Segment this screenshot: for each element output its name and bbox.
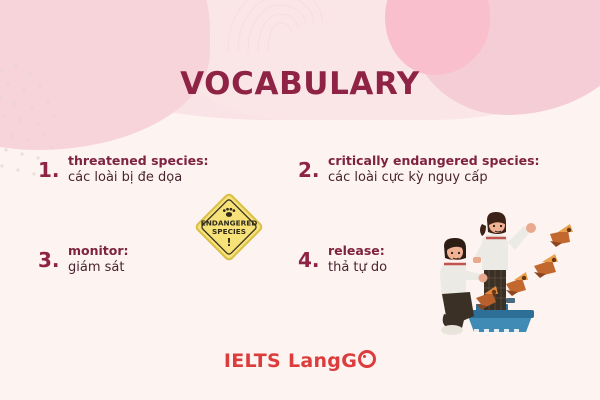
sign-line-2: SPECIES [212,227,246,236]
item-meaning: thả tự do [328,260,387,276]
endangered-species-sign-icon: ENDANGERED SPECIES ! [192,190,266,264]
item-text: release: thả tự do [328,243,387,276]
item-term: monitor: [68,243,129,259]
item-meaning: các loài bị đe dọa [68,170,209,186]
item-number: 2. [298,153,328,180]
bird-icon-2 [506,272,528,296]
item-number: 3. [38,243,68,270]
item-term: critically endangered species: [328,153,540,169]
logo-langgo: LangG [288,350,357,372]
pink-wave-shape [150,0,600,120]
bird-icon-4 [550,224,573,247]
item-text: critically endangered species: các loài … [328,153,540,186]
bird-icon-3 [534,254,558,278]
logo-ring-icon [358,350,376,368]
item-meaning: các loài cực kỳ nguy cấp [328,170,540,186]
item-text: threatened species: các loài bị đe dọa [68,153,209,186]
standing-person-icon [473,212,536,310]
logo-ielts: IELTS [224,350,281,372]
vocabulary-item-1: 1. threatened species: các loài bị đe dọ… [38,153,209,186]
item-term: threatened species: [68,153,209,169]
contour-swirl-icon [218,0,338,52]
pink-band-shape [0,0,600,120]
item-text: monitor: giám sát [68,243,129,276]
sign-exclamation: ! [226,236,231,249]
item-number: 1. [38,153,68,180]
vocabulary-slide: VOCABULARY 1. threatened species: các lo… [0,0,600,400]
bird-release-illustration [440,212,600,340]
pink-blob-right-small [385,0,490,75]
vocabulary-item-4: 4. release: thả tự do [298,243,387,276]
item-meaning: giám sát [68,260,129,276]
vocabulary-item-3: 3. monitor: giám sát [38,243,129,276]
brand-logo: IELTS LangG [0,349,600,372]
background-decoration [0,0,600,400]
page-title: VOCABULARY [0,66,600,102]
item-term: release: [328,243,387,259]
vocabulary-item-2: 2. critically endangered species: các lo… [298,153,540,186]
item-number: 4. [298,243,328,270]
